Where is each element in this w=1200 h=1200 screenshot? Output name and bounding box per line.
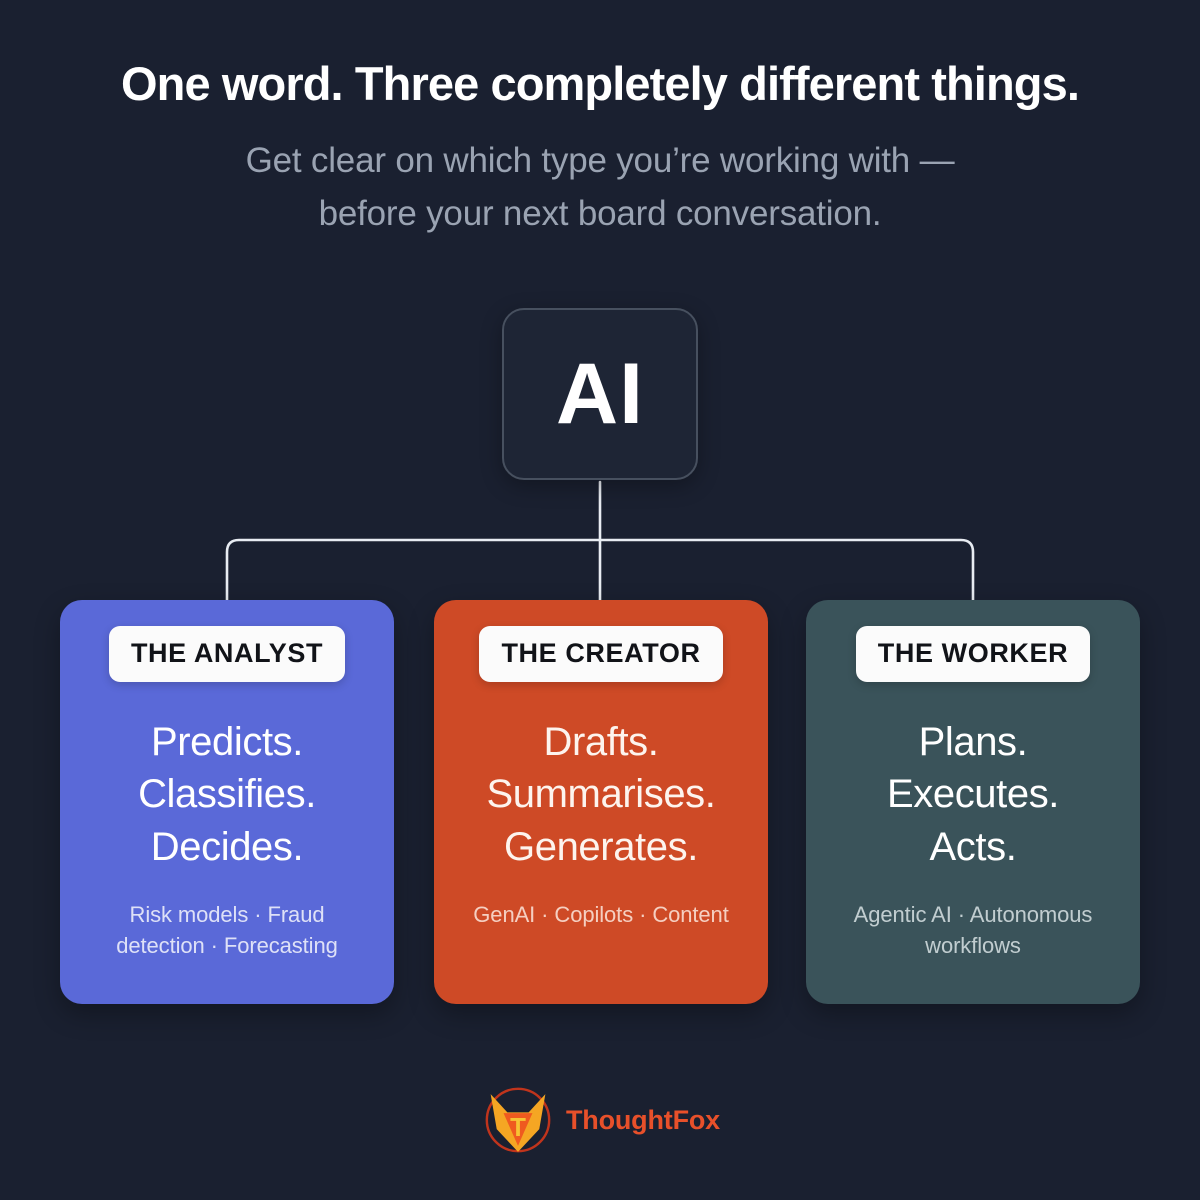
- card-the-creator[interactable]: THE CREATOR Drafts. Summarises. Generate…: [434, 600, 768, 1004]
- card-verbs-analyst: Predicts. Classifies. Decides.: [138, 716, 316, 873]
- infographic-canvas: One word. Three completely different thi…: [0, 0, 1200, 1200]
- verb-line: Drafts.: [487, 716, 716, 768]
- svg-text:T: T: [510, 1114, 526, 1142]
- card-badge-creator: THE CREATOR: [479, 626, 722, 682]
- card-examples-worker: Agentic AI · Autonomous workflows: [824, 899, 1122, 961]
- root-node-ai[interactable]: AI: [502, 308, 698, 480]
- card-badge-worker: THE WORKER: [856, 626, 1091, 682]
- card-examples-analyst: Risk models · Fraud detection · Forecast…: [78, 899, 376, 961]
- verb-line: Predicts.: [138, 716, 316, 768]
- card-verbs-creator: Drafts. Summarises. Generates.: [487, 716, 716, 873]
- verb-line: Acts.: [887, 821, 1059, 873]
- verb-line: Executes.: [887, 768, 1059, 820]
- verb-line: Decides.: [138, 821, 316, 873]
- thoughtfox-logo-icon: T: [480, 1082, 556, 1158]
- card-the-analyst[interactable]: THE ANALYST Predicts. Classifies. Decide…: [60, 600, 394, 1004]
- card-badge-analyst: THE ANALYST: [109, 626, 345, 682]
- verb-line: Classifies.: [138, 768, 316, 820]
- verb-line: Plans.: [887, 716, 1059, 768]
- verb-line: Summarises.: [487, 768, 716, 820]
- brand-wordmark: ThoughtFox: [566, 1107, 720, 1134]
- root-node-label: AI: [556, 351, 644, 437]
- card-the-worker[interactable]: THE WORKER Plans. Executes. Acts. Agenti…: [806, 600, 1140, 1004]
- brand-footer: T ThoughtFox: [0, 1082, 1200, 1158]
- page-subtitle-line-1: Get clear on which type you’re working w…: [0, 135, 1200, 188]
- card-examples-creator: GenAI · Copilots · Content: [467, 899, 734, 930]
- page-subtitle-line-2: before your next board conversation.: [0, 188, 1200, 241]
- page-subtitle: Get clear on which type you’re working w…: [0, 135, 1200, 240]
- card-verbs-worker: Plans. Executes. Acts.: [887, 716, 1059, 873]
- page-title: One word. Three completely different thi…: [0, 58, 1200, 111]
- verb-line: Generates.: [487, 821, 716, 873]
